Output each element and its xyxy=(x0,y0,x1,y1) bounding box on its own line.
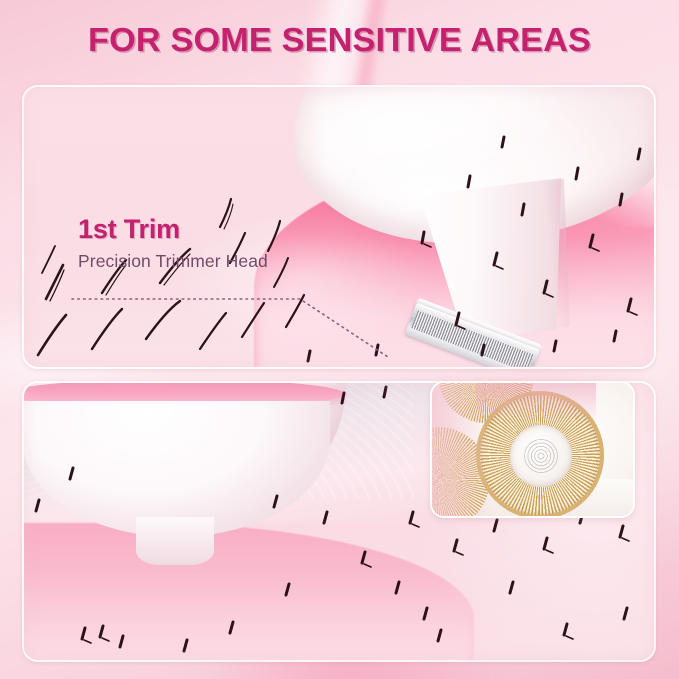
shaver-pink-band xyxy=(295,85,656,86)
electric-shaver-rotary-head-icon xyxy=(22,381,346,607)
page-title: FOR SOME SENSITIVE AREAS xyxy=(0,22,679,60)
feature-panel-trim: 1st Trim Precision Trimmer Head xyxy=(22,85,656,369)
shaver-gloss-highlight xyxy=(66,381,266,387)
foil-center-swirl xyxy=(524,439,558,473)
inset-tint-top xyxy=(476,383,596,423)
feature-label-trim: 1st Trim Precision Trimmer Head xyxy=(78,215,268,273)
shaver-stem xyxy=(136,517,214,565)
infographic-canvas: FOR SOME SENSITIVE AREAS xyxy=(0,0,679,679)
gold-rotary-foil-macro-icon xyxy=(430,381,635,518)
feature-title-trim: 1st Trim xyxy=(78,215,268,243)
feature-subtitle-trim: Precision Trimmer Head xyxy=(78,250,268,272)
